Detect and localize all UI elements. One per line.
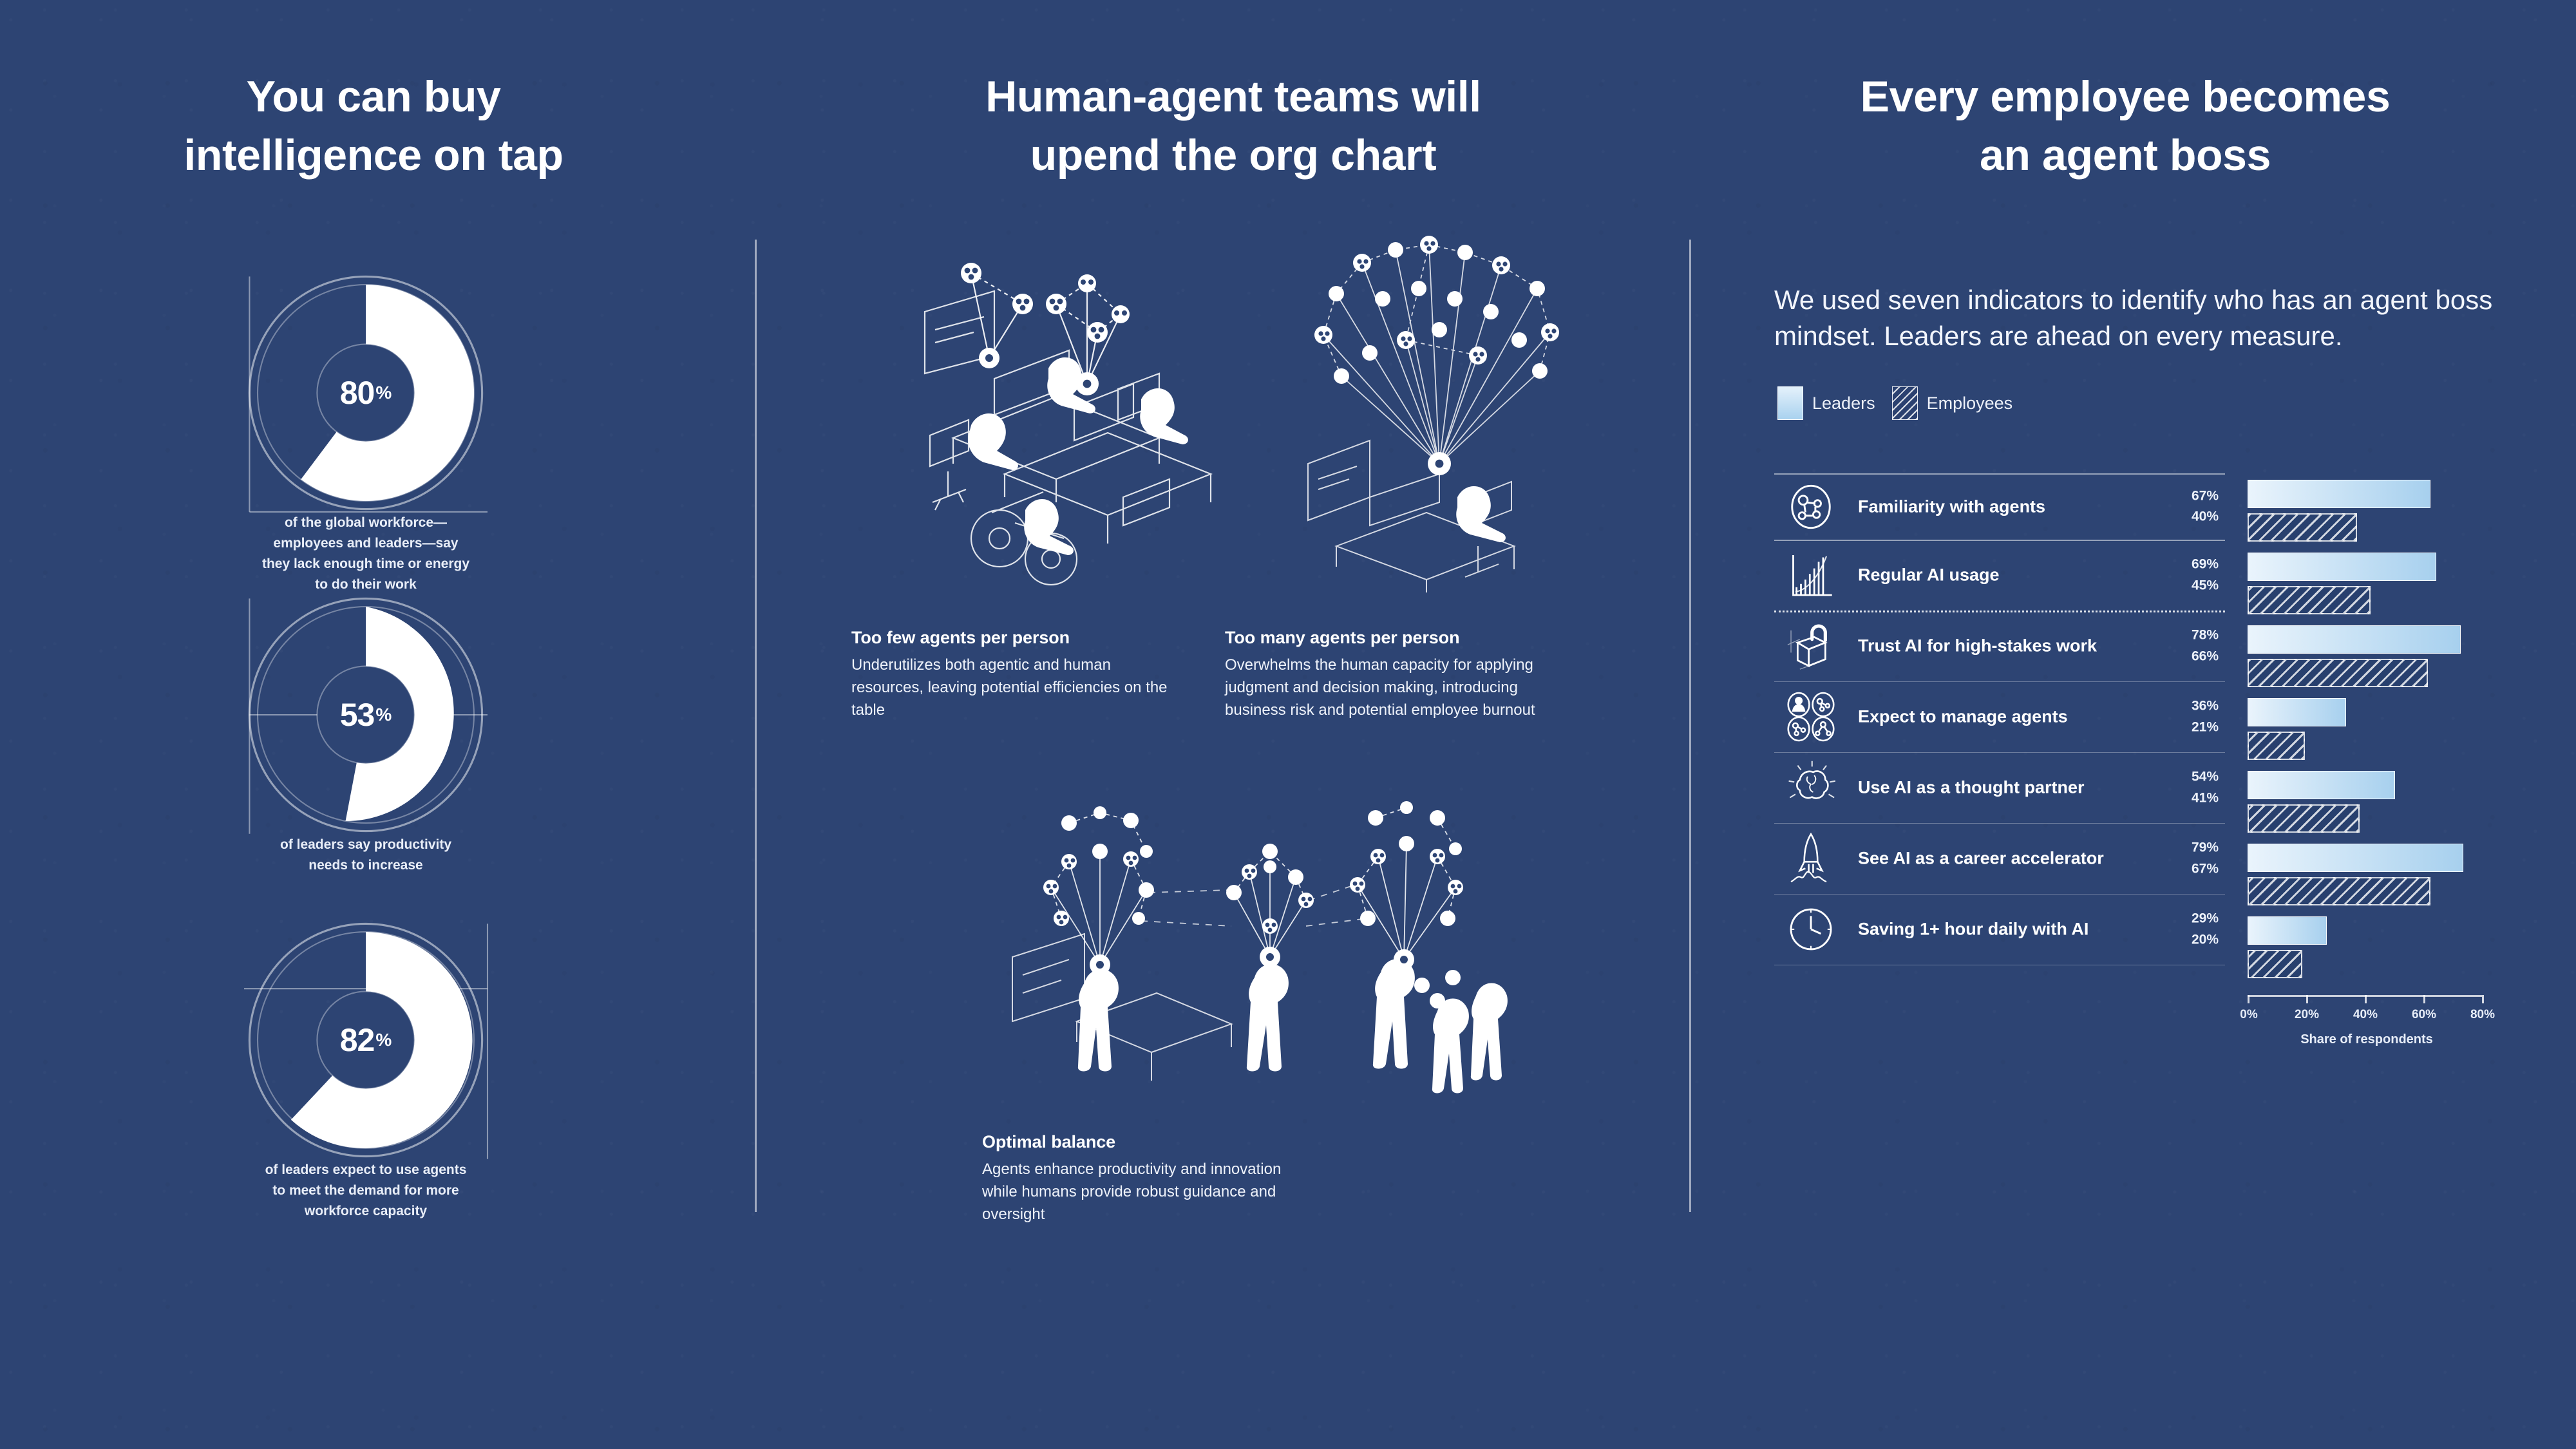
infographic-canvas: You can buy intelligence on tap 80% of t… [0, 0, 2576, 1449]
indicator-values-regular-ai-usage: 69% 45% [2171, 554, 2219, 596]
row-rule-top [1774, 473, 2225, 475]
bar-leaders-expect-manage-agents[interactable] [2248, 698, 2346, 726]
chart-legend: Leaders Employees [1777, 386, 2012, 420]
bar-leaders-saving-hour[interactable] [2248, 916, 2327, 945]
legend-swatch-leaders-icon [1777, 386, 1803, 420]
people-agents-grid-icon [1783, 689, 1839, 744]
bar-growth-chart-icon [1783, 547, 1839, 603]
illustration-optimal-balance [1005, 766, 1520, 1101]
axis-tick-label-0: 0% [2240, 1008, 2257, 1022]
bar-leaders-trust-ai[interactable] [2248, 625, 2461, 654]
right-panel-intro: We used seven indicators to identify who… [1774, 282, 2502, 355]
donut-80-center-value: 80% [231, 258, 501, 528]
value-employees-trust-ai: 66% [2171, 646, 2219, 667]
value-employees-familiarity: 40% [2171, 507, 2219, 528]
column-title-3-line2: an agent boss [1739, 126, 2512, 185]
indicator-values-trust-ai: 78% 66% [2171, 625, 2219, 667]
brain-idea-icon [1783, 760, 1839, 815]
column-title-3-line1: Every employee becomes [1739, 68, 2512, 126]
donut-block-53: 53% of leaders say productivity needs to… [231, 580, 501, 853]
rocket-icon [1783, 831, 1839, 886]
bar-employees-familiarity[interactable] [2248, 513, 2357, 542]
donut-80-percent-symbol: % [375, 383, 392, 403]
indicator-label-familiarity: Familiarity with agents [1858, 497, 2045, 516]
indicator-row-career-accelerator[interactable]: See AI as a career accelerator 79% 67% [1774, 823, 2225, 894]
column-title-2-line1: Human-agent teams will [818, 68, 1649, 126]
axis-title-share-of-respondents: Share of respondents [2228, 1032, 2505, 1047]
value-leaders-expect-manage-agents: 36% [2171, 696, 2219, 717]
bar-chart-plot: 0% 20% 40% 60% 80% Share of respondents [2248, 473, 2518, 1169]
indicator-label-saving-hour: Saving 1+ hour daily with AI [1858, 920, 2088, 940]
donut-82-value: 82 [340, 1021, 375, 1059]
value-leaders-regular-ai-usage: 69% [2171, 554, 2219, 575]
callout-optimal-heading: Optimal balance [982, 1132, 1317, 1152]
indicator-label-regular-ai-usage: Regular AI usage [1858, 565, 2000, 585]
donut-82-center-value: 82% [231, 905, 501, 1175]
row-rule-top [1774, 823, 2225, 824]
open-padlock-icon [1783, 618, 1839, 674]
axis-tick-20 [2306, 995, 2308, 1003]
legend-item-employees[interactable]: Employees [1892, 386, 2013, 420]
axis-tick-40 [2365, 995, 2367, 1003]
column-title-1: You can buy intelligence on tap [84, 68, 663, 185]
value-employees-saving-hour: 20% [2171, 929, 2219, 951]
donut-80-value: 80 [340, 374, 375, 412]
row-rule-bottom [1774, 965, 2225, 965]
column-title-3: Every employee becomes an agent boss [1739, 68, 2512, 185]
bar-employees-expect-manage-agents[interactable] [2248, 732, 2305, 760]
value-employees-expect-manage-agents: 21% [2171, 717, 2219, 738]
donut-82-percent-symbol: % [375, 1030, 392, 1050]
column-title-1-line1: You can buy [84, 68, 663, 126]
donut-53-value: 53 [340, 696, 375, 734]
bar-leaders-familiarity[interactable] [2248, 480, 2430, 508]
donut-chart-80: 80% [231, 258, 501, 531]
row-rule-top [1774, 540, 2225, 541]
indicator-label-trust-ai: Trust AI for high-stakes work [1858, 636, 2097, 656]
donut-block-82: 82% of leaders expect to use agents to m… [231, 905, 501, 1179]
network-node-icon [1783, 479, 1839, 535]
callout-optimal-balance: Optimal balance Agents enhance productiv… [982, 1132, 1317, 1226]
bar-leaders-thought-partner[interactable] [2248, 771, 2395, 799]
indicator-row-trust-ai[interactable]: Trust AI for high-stakes work 78% 66% [1774, 611, 2225, 681]
legend-label-employees: Employees [1927, 393, 2013, 413]
callout-too-many-heading: Too many agents per person [1225, 628, 1560, 648]
bar-employees-thought-partner[interactable] [2248, 804, 2360, 833]
callout-too-few-heading: Too few agents per person [851, 628, 1186, 648]
donut-chart-53: 53% [231, 580, 501, 853]
indicator-values-familiarity: 67% 40% [2171, 486, 2219, 527]
row-rule-top [1774, 894, 2225, 895]
callout-too-many-agents: Too many agents per person Overwhelms th… [1225, 628, 1560, 721]
donut-53-percent-symbol: % [375, 705, 392, 725]
donut-block-80: 80% of the global workforce—employees an… [231, 258, 501, 531]
axis-tick-80 [2482, 995, 2484, 1003]
axis-tick-label-40: 40% [2353, 1008, 2378, 1022]
axis-tick-label-80: 80% [2470, 1008, 2495, 1022]
callout-optimal-body: Agents enhance productivity and innovati… [982, 1158, 1317, 1226]
indicator-label-career-accelerator: See AI as a career accelerator [1858, 849, 2104, 869]
indicator-row-saving-hour[interactable]: Saving 1+ hour daily with AI 29% 20% [1774, 894, 2225, 965]
indicator-row-familiarity[interactable]: Familiarity with agents 67% 40% [1774, 473, 2225, 540]
value-leaders-saving-hour: 29% [2171, 908, 2219, 929]
value-employees-thought-partner: 41% [2171, 788, 2219, 809]
value-leaders-familiarity: 67% [2171, 486, 2219, 507]
indicator-values-career-accelerator: 79% 67% [2171, 837, 2219, 879]
axis-tick-60 [2423, 995, 2425, 1003]
clock-icon [1783, 902, 1839, 957]
indicator-row-bottom-rule [1774, 965, 2225, 967]
axis-tick-0 [2248, 995, 2249, 1003]
callout-too-few-body: Underutilizes both agentic and human res… [851, 654, 1186, 721]
row-rule-top-dotted [1774, 611, 2225, 612]
indicator-values-expect-manage-agents: 36% 21% [2171, 696, 2219, 737]
bar-chart-x-axis: 0% 20% 40% 60% 80% Share of respondents [2248, 995, 2518, 1034]
indicator-label-thought-partner: Use AI as a thought partner [1858, 778, 2085, 798]
value-leaders-career-accelerator: 79% [2171, 837, 2219, 858]
indicator-row-regular-ai-usage[interactable]: Regular AI usage 69% 45% [1774, 540, 2225, 611]
bar-leaders-career-accelerator[interactable] [2248, 844, 2463, 872]
indicator-row-expect-manage-agents[interactable]: Expect to manage agents 36% 21% [1774, 681, 2225, 752]
donut-82-caption: of leaders expect to use agents to meet … [260, 1160, 472, 1222]
indicator-values-saving-hour: 29% 20% [2171, 908, 2219, 950]
legend-label-leaders: Leaders [1812, 393, 1875, 413]
bar-employees-trust-ai[interactable] [2248, 659, 2428, 687]
value-leaders-trust-ai: 78% [2171, 625, 2219, 646]
indicator-row-thought-partner[interactable]: Use AI as a thought partner 54% 41% [1774, 752, 2225, 823]
bar-leaders-regular-ai-usage[interactable] [2248, 553, 2436, 581]
value-employees-career-accelerator: 67% [2171, 858, 2219, 880]
column-title-1-line2: intelligence on tap [84, 126, 663, 185]
bar-employees-regular-ai-usage[interactable] [2248, 586, 2371, 614]
axis-tick-label-60: 60% [2412, 1008, 2436, 1022]
divider-right [1689, 240, 1691, 1212]
bar-employees-saving-hour[interactable] [2248, 950, 2302, 978]
indicator-values-thought-partner: 54% 41% [2171, 766, 2219, 808]
legend-item-leaders[interactable]: Leaders [1777, 386, 1875, 420]
column-title-2: Human-agent teams will upend the org cha… [818, 68, 1649, 185]
donut-chart-82: 82% [231, 905, 501, 1179]
axis-tick-label-20: 20% [2295, 1008, 2319, 1022]
donut-53-caption: of leaders say productivity needs to inc… [260, 835, 472, 876]
illustration-too-few-agents [914, 245, 1275, 586]
column-title-2-line2: upend the org chart [818, 126, 1649, 185]
donut-53-center-value: 53% [231, 580, 501, 850]
value-leaders-thought-partner: 54% [2171, 766, 2219, 788]
value-employees-regular-ai-usage: 45% [2171, 575, 2219, 596]
callout-too-many-body: Overwhelms the human capacity for applyi… [1225, 654, 1560, 721]
row-rule-top [1774, 681, 2225, 682]
divider-left [755, 240, 757, 1212]
legend-swatch-employees-icon [1892, 386, 1918, 420]
indicator-label-expect-manage-agents: Expect to manage agents [1858, 707, 2068, 727]
row-rule-top [1774, 752, 2225, 753]
callout-too-few-agents: Too few agents per person Underutilizes … [851, 628, 1186, 721]
indicator-rows: Familiarity with agents 67% 40% Regular … [1774, 473, 2225, 967]
bar-employees-career-accelerator[interactable] [2248, 877, 2430, 905]
illustration-too-many-agents [1285, 232, 1607, 592]
